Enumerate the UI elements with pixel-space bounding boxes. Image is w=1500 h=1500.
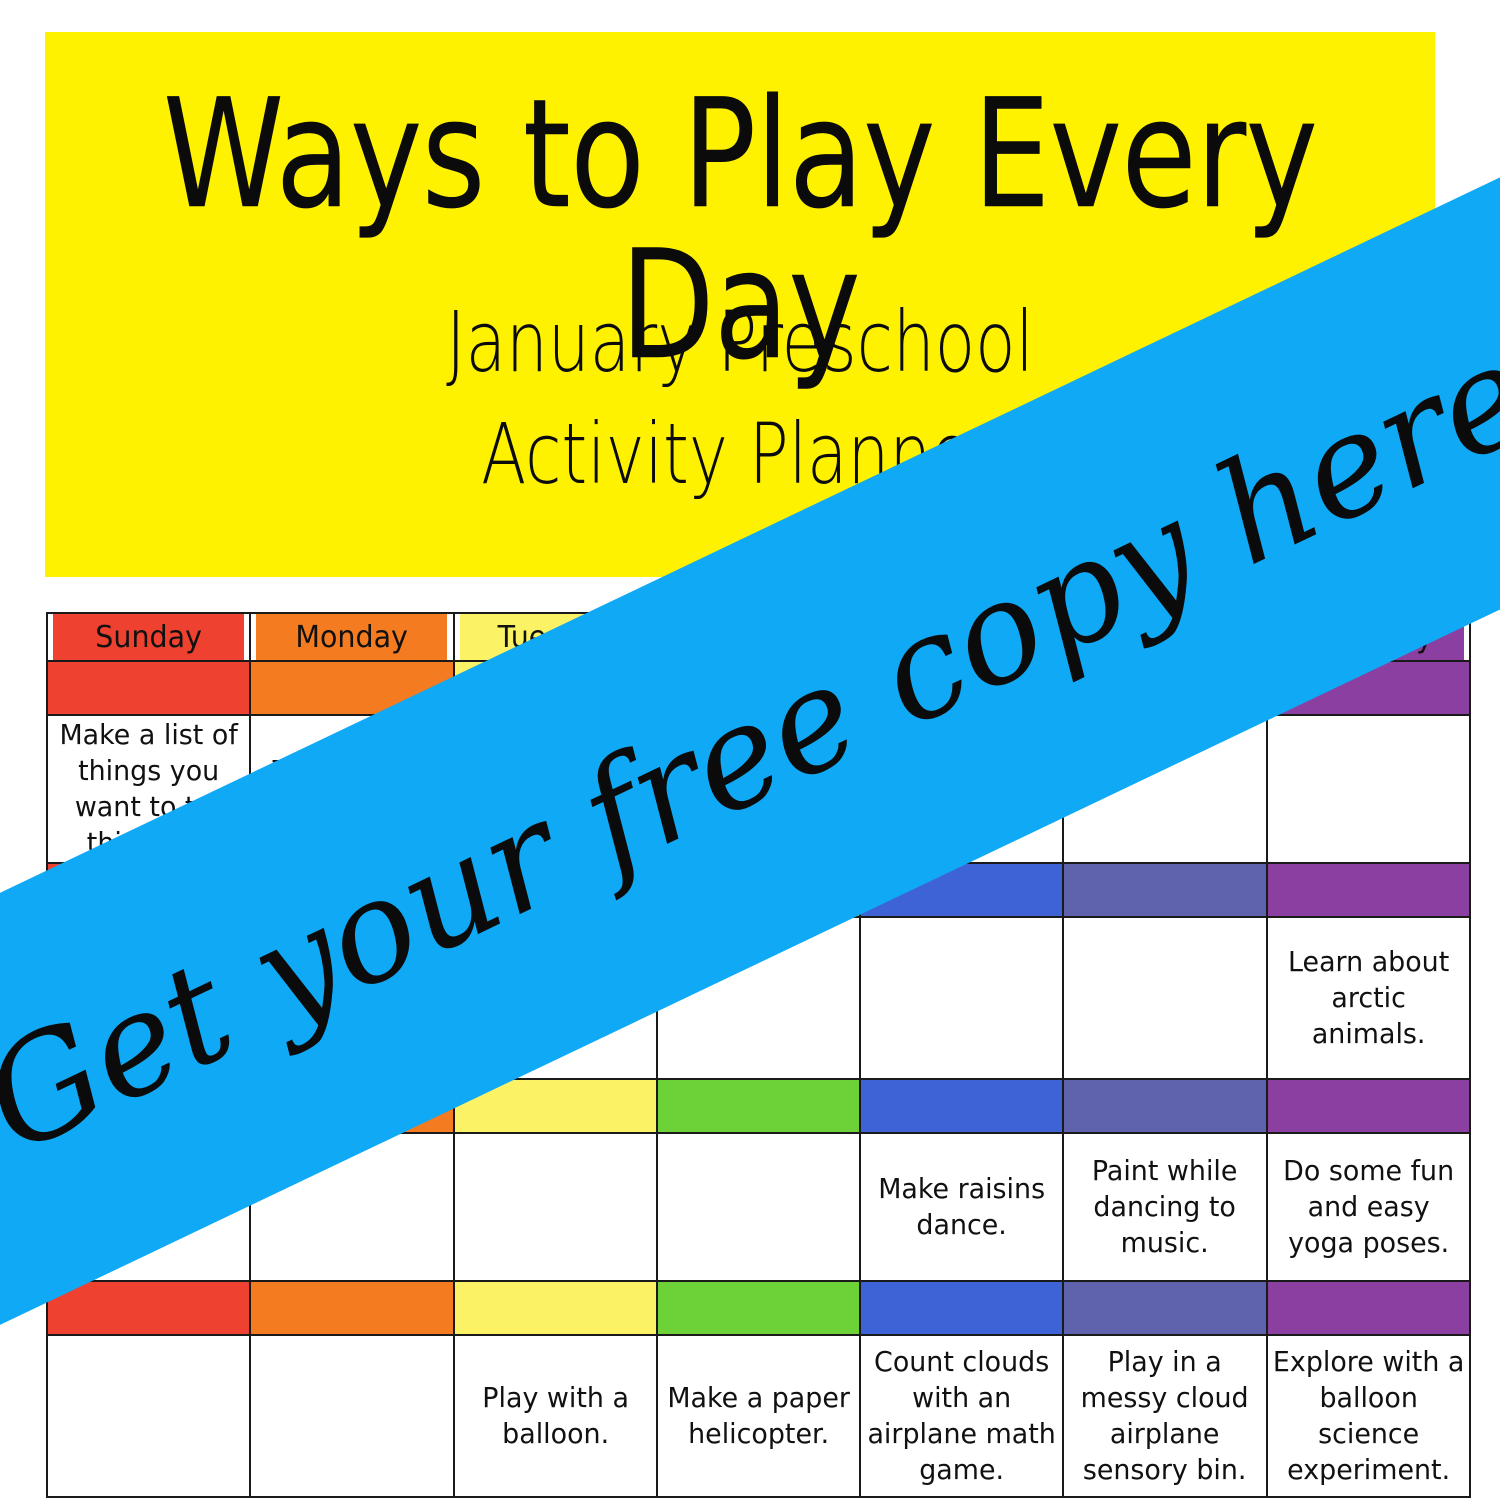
activity-cell: Paint while dancing to music. — [1067, 1133, 1262, 1281]
colorband-cell — [1267, 863, 1470, 917]
colorband-cell — [454, 1281, 657, 1335]
activity-cell: Play with a balloon. — [458, 1335, 653, 1497]
calendar-header-monday: Monday — [255, 613, 448, 661]
colorband-cell — [1267, 1281, 1470, 1335]
activity-cell — [864, 917, 1059, 1079]
activity-cell: Play in a messy cloud airplane sensory b… — [1067, 1335, 1262, 1497]
activity-cell — [661, 1133, 856, 1281]
activity-cell: Do some fun and easy yoga poses. — [1271, 1133, 1466, 1281]
activity-cell — [1271, 715, 1466, 863]
activity-cell — [1067, 917, 1262, 1079]
colorband-cell — [1063, 1079, 1266, 1133]
activity-cell: Learn about arctic animals. — [1271, 917, 1466, 1079]
colorband-cell — [1063, 863, 1266, 917]
poster-canvas: Sunday Monday Tuesday Wednesday Thursday… — [0, 0, 1500, 1500]
colorband-cell — [657, 1281, 860, 1335]
activity-cell: Make a paper helicopter. — [661, 1335, 856, 1497]
colorband-cell — [657, 1079, 860, 1133]
calendar-header-sunday: Sunday — [52, 613, 245, 661]
colorband-cell — [47, 661, 250, 715]
activity-cell — [51, 1335, 246, 1497]
colorband-cell — [47, 1281, 250, 1335]
colorband-cell — [250, 1281, 453, 1335]
activity-cell — [458, 1133, 653, 1281]
activity-cell — [254, 1335, 449, 1497]
table-row: Play with a balloon. Make a paper helico… — [47, 1335, 1470, 1497]
colorband-cell — [860, 1281, 1063, 1335]
colorband-cell — [1063, 1281, 1266, 1335]
colorband-cell — [1267, 1079, 1470, 1133]
activity-cell: Count clouds with an airplane math game. — [864, 1335, 1059, 1497]
calendar-colorband-row-4 — [47, 1281, 1470, 1335]
colorband-cell — [860, 1079, 1063, 1133]
activity-cell: Explore with a balloon science experimen… — [1271, 1335, 1466, 1497]
activity-cell: Make raisins dance. — [864, 1133, 1059, 1281]
